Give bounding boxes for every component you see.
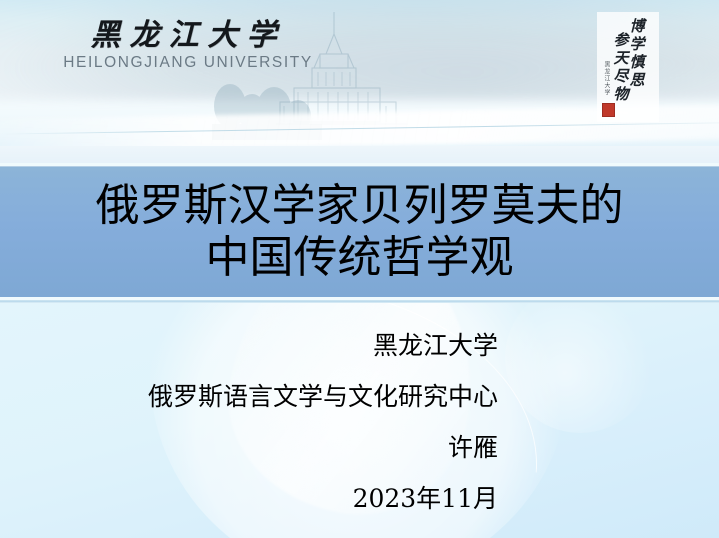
- slide-title-band: 俄罗斯汉学家贝列罗莫夫的 中国传统哲学观: [0, 166, 719, 297]
- slide-title-line-1: 俄罗斯汉学家贝列罗莫夫的: [96, 180, 624, 231]
- university-name-chinese: 黑龙江大学: [58, 20, 318, 52]
- slide-title: 俄罗斯汉学家贝列罗莫夫的 中国传统哲学观: [10, 180, 710, 282]
- university-logo: 黑龙江大学 HEILONGJIANG UNIVERSITY: [58, 20, 318, 72]
- research-center-line: 俄罗斯语言文学与文化研究中心: [0, 384, 540, 409]
- presenter-info-block: 黑龙江大学 俄罗斯语言文学与文化研究中心 许雁 2023年11月: [0, 303, 540, 511]
- date-line: 2023年11月: [0, 486, 540, 511]
- motto-signature: 黑龙江大学: [602, 61, 611, 96]
- presentation-title-slide: 黑龙江大学 HEILONGJIANG UNIVERSITY 博学慎思 参天尽物 …: [0, 0, 719, 538]
- author-line: 许雁: [0, 435, 540, 460]
- slide-body: 黑龙江大学 俄罗斯语言文学与文化研究中心 许雁 2023年11月: [0, 303, 719, 538]
- slide-header-banner: 黑龙江大学 HEILONGJIANG UNIVERSITY 博学慎思 参天尽物 …: [0, 0, 719, 163]
- calligraphy-motto: 博学慎思 参天尽物 黑龙江大学: [597, 12, 659, 122]
- slide-title-line-2: 中国传统哲学观: [10, 232, 710, 283]
- banner-bottom-band: [0, 146, 719, 163]
- red-seal-icon: [602, 103, 615, 117]
- motto-column-1: 博学慎思: [629, 18, 644, 122]
- university-name-english: HEILONGJIANG UNIVERSITY: [58, 54, 318, 72]
- affiliation-line: 黑龙江大学: [0, 333, 540, 358]
